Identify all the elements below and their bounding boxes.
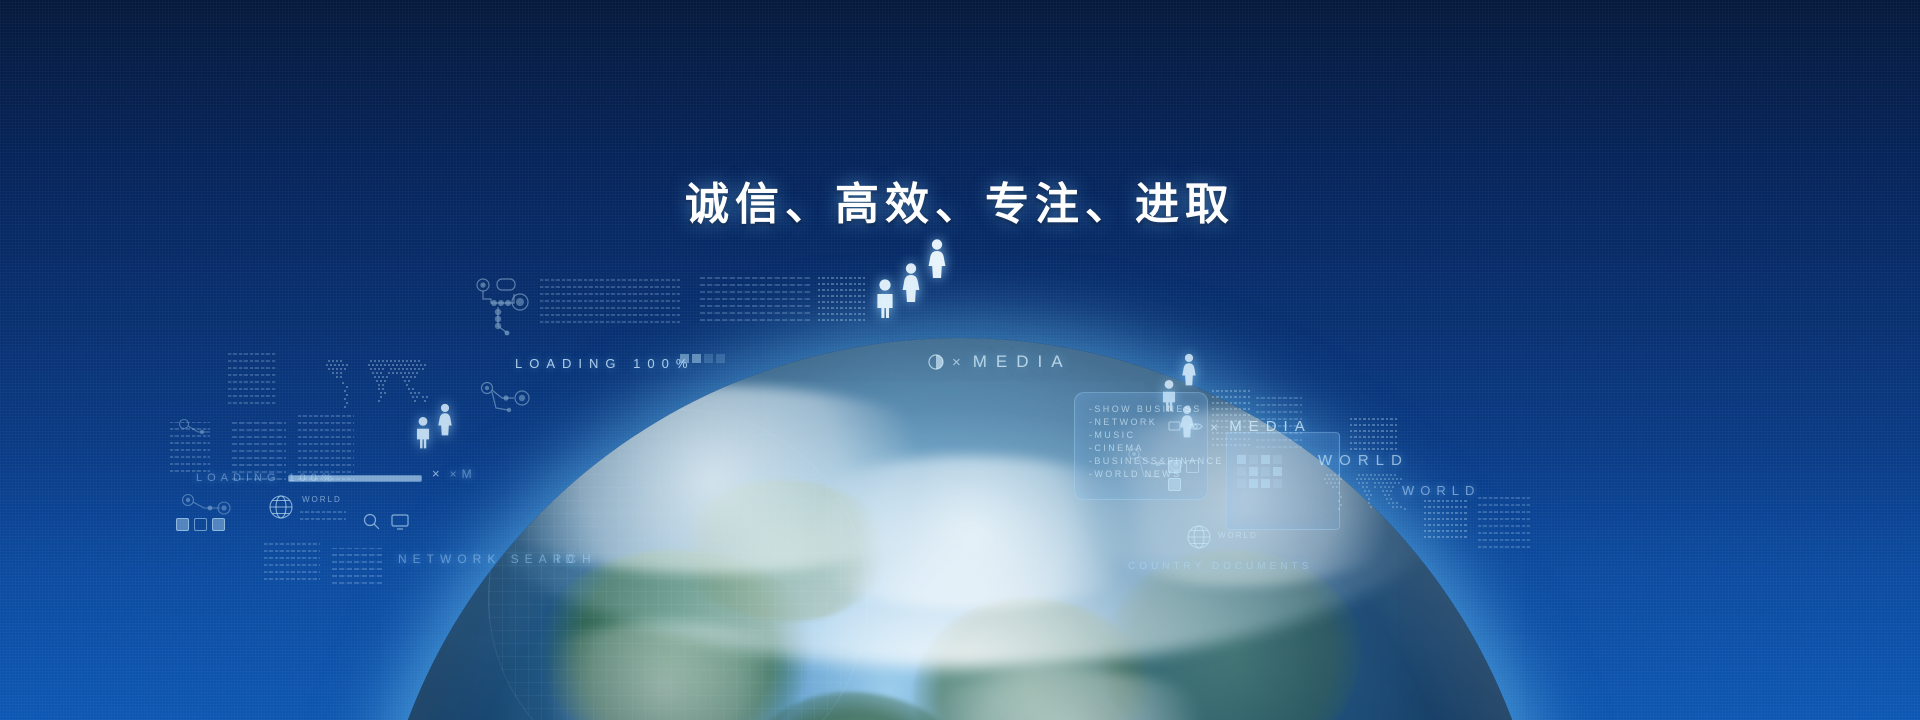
person-icon xyxy=(926,238,948,278)
globe-sphere xyxy=(370,338,1550,720)
person-icon xyxy=(1180,352,1198,386)
info-panel-list: -SHOW BUSINESS -NETWORK -MUSIC -CINEMA -… xyxy=(1089,403,1224,481)
person-icon xyxy=(436,402,454,436)
data-text-block xyxy=(300,506,346,520)
info-panel: -SHOW BUSINESS -NETWORK -MUSIC -CINEMA -… xyxy=(1074,392,1208,500)
circuit-node-icon xyxy=(474,276,530,336)
glyph-block xyxy=(212,518,225,531)
world-globe-icon xyxy=(268,494,294,525)
list-item: -SHOW BUSINESS xyxy=(1089,403,1224,416)
hero-banner: 诚信、高效、专注、进取 xyxy=(0,0,1920,720)
list-item: -MUSIC xyxy=(1089,429,1224,442)
data-text-block xyxy=(232,418,286,480)
glyph-block xyxy=(194,518,207,531)
world-small-label: WORLD xyxy=(302,494,342,505)
data-text-block xyxy=(228,348,276,404)
person-icon xyxy=(900,262,922,302)
list-item: -WORLD NEWS xyxy=(1089,468,1224,481)
loading-status-left: LOADING 100% xyxy=(196,468,337,486)
circuit-node-icon xyxy=(178,418,214,444)
data-text-block xyxy=(298,414,354,480)
circuit-node-icon xyxy=(180,492,232,526)
earth-globe-image xyxy=(370,338,1550,720)
list-item: -CINEMA xyxy=(1089,442,1224,455)
person-icon xyxy=(414,415,432,449)
screen-panel xyxy=(1226,432,1340,530)
screen-blocks xyxy=(1237,455,1293,488)
list-item: -BUSINESS&FINANCE xyxy=(1089,455,1224,468)
data-text-block xyxy=(170,422,210,472)
data-text-block xyxy=(264,540,320,580)
data-text-block xyxy=(540,277,680,323)
person-icon xyxy=(874,278,896,318)
page-title: 诚信、高效、专注、进取 xyxy=(0,168,1920,232)
glyph-block xyxy=(176,518,189,531)
loading-label: LOADING 100% xyxy=(196,472,337,484)
list-item: -NETWORK xyxy=(1089,416,1224,429)
glyph-row xyxy=(176,518,225,531)
